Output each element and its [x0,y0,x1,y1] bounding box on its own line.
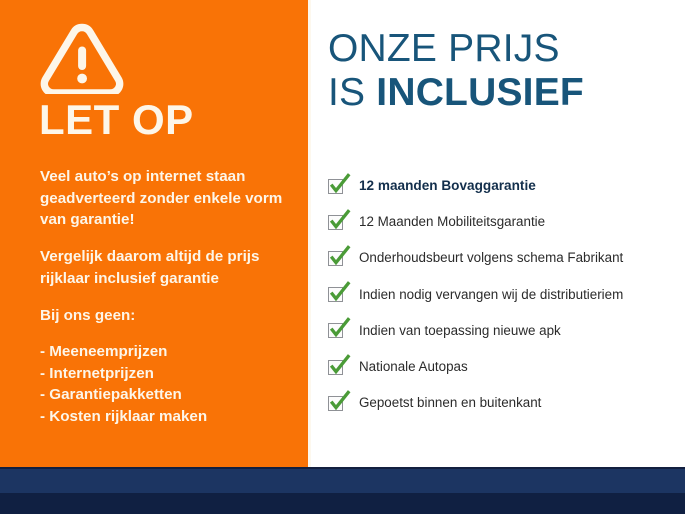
list-item: - Garantiepakketten [40,384,302,406]
feature-label: 12 maanden Bovaggarantie [359,178,536,194]
list-item: Indien nodig vervangen wij de distributi… [328,277,685,313]
list-item: Onderhoudsbeurt volgens schema Fabrikant [328,240,685,276]
bottom-bar [0,467,685,514]
feature-list: 12 maanden Bovaggarantie 12 Maanden Mobi… [328,168,685,421]
list-item: 12 maanden Bovaggarantie [328,168,685,204]
checkbox-checked-icon [328,179,343,194]
list-item: Nationale Autopas [328,349,685,385]
headline-line-1: ONZE PRIJS [328,27,584,71]
feature-label: Nationale Autopas [359,359,468,375]
checkbox-checked-icon [328,251,343,266]
list-item: Indien van toepassing nieuwe apk [328,313,685,349]
headline-line-2: IS INCLUSIEF [328,71,584,115]
list-item: - Internetprijzen [40,363,302,385]
bottom-bar-shadow [0,493,685,514]
exclusions-list: - Meeneemprijzen - Internetprijzen - Gar… [40,341,302,427]
headline-line-2-strong: INCLUSIEF [376,71,584,114]
list-item: - Meeneemprijzen [40,341,302,363]
list-item: 12 Maanden Mobiliteitsgarantie [328,204,685,240]
inclusions-panel: ONZE PRIJS IS INCLUSIEF 12 maanden Bovag… [311,0,685,467]
warning-triangle-icon [40,21,124,94]
feature-label: Indien nodig vervangen wij de distributi… [359,287,623,303]
headline: ONZE PRIJS IS INCLUSIEF [328,27,584,115]
warning-paragraph-1: Veel auto’s op internet staan geadvertee… [40,166,302,231]
checkbox-checked-icon [328,215,343,230]
headline-line-2-prefix: IS [328,71,376,114]
warning-paragraph-3: Bij ons geen: [40,305,302,327]
warning-paragraph-2: Vergelijk daarom altijd de prijs rijklaa… [40,246,302,289]
feature-label: Onderhoudsbeurt volgens schema Fabrikant [359,250,623,266]
page-title: LET OP [39,99,194,141]
feature-label: 12 Maanden Mobiliteitsgarantie [359,214,545,230]
bottom-bar-main [0,469,685,493]
list-item: - Kosten rijklaar maken [40,406,302,428]
feature-label: Indien van toepassing nieuwe apk [359,323,561,339]
checkbox-checked-icon [328,323,343,338]
checkbox-checked-icon [328,396,343,411]
list-item: Gepoetst binnen en buitenkant [328,385,685,421]
promo-banner: LET OP Veel auto’s op internet staan gea… [0,0,685,514]
warning-panel: LET OP Veel auto’s op internet staan gea… [0,0,308,467]
feature-label: Gepoetst binnen en buitenkant [359,395,541,411]
checkbox-checked-icon [328,287,343,302]
checkbox-checked-icon [328,360,343,375]
